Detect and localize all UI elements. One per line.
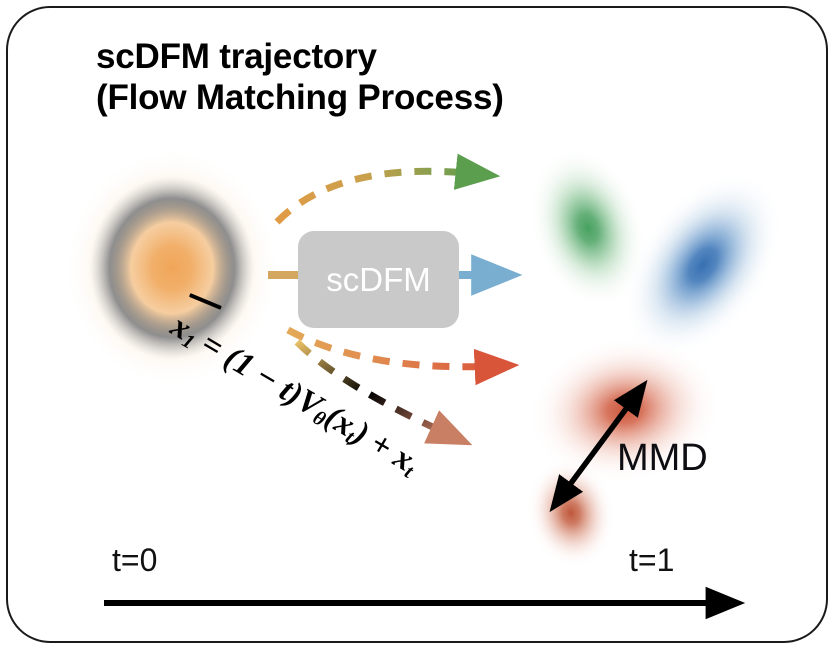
time-axis-start-label: t=0	[112, 542, 157, 579]
mmd-label: MMD	[617, 437, 708, 480]
flow-arrow-red	[288, 330, 497, 367]
distribution-blob-group	[64, 131, 816, 577]
scdfm-model-label: scDFM	[298, 231, 459, 328]
scdfm-model-box: scDFM	[298, 231, 459, 328]
flow-arrow-green	[277, 171, 478, 222]
title-line-1: scDFM trajectory	[96, 36, 656, 77]
title-line-2: (Flow Matching Process)	[96, 77, 656, 118]
figure-root: scDFM trajectory (Flow Matching Process)…	[0, 0, 836, 651]
page-title: scDFM trajectory (Flow Matching Process)	[96, 36, 656, 119]
time-axis-end-label: t=1	[629, 542, 674, 579]
